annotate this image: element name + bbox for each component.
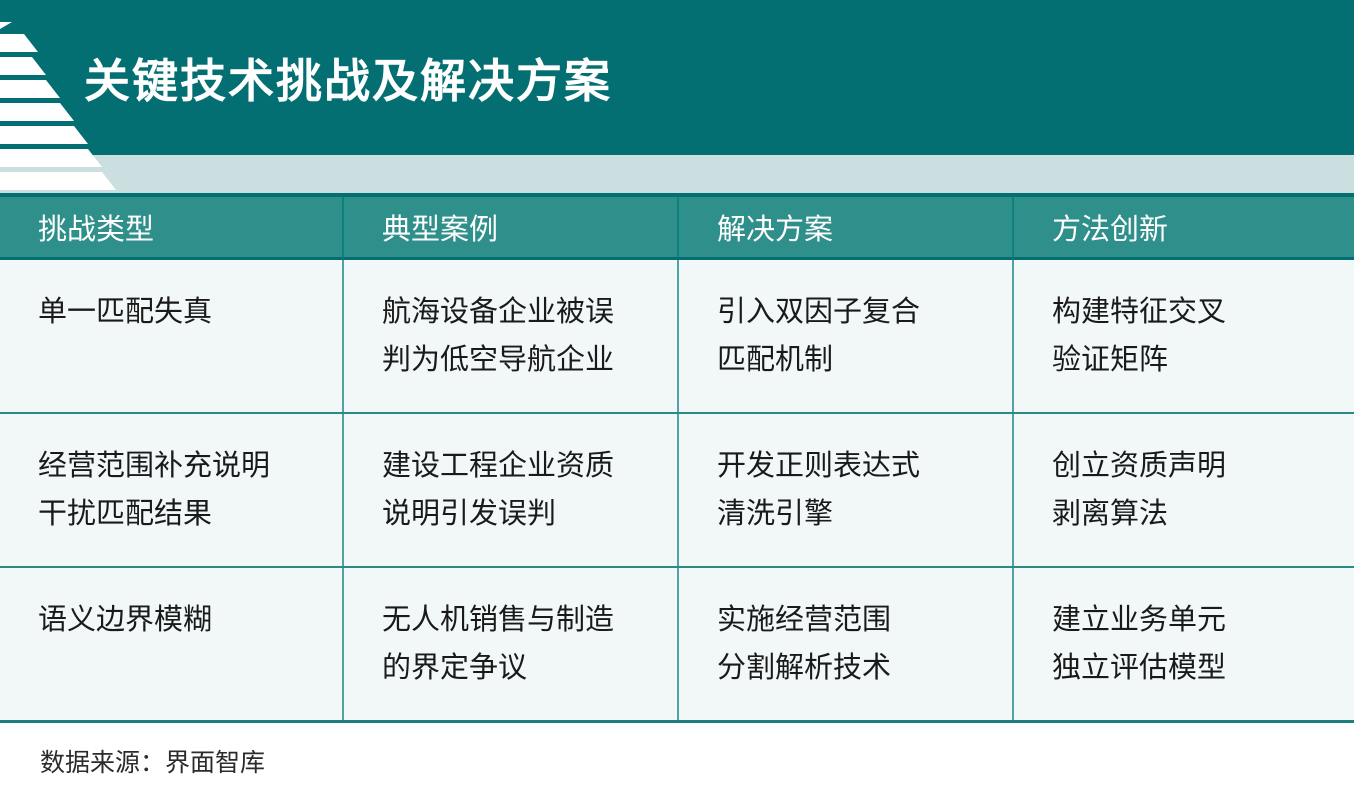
cell-line: 清洗引擎: [717, 490, 1000, 538]
cell-line: 实施经营范围: [717, 596, 1000, 644]
cell-line: 建设工程企业资质: [382, 442, 665, 490]
table-row: 经营范围补充说明 干扰匹配结果 建设工程企业资质 说明引发误判 开发正则表达式 …: [0, 413, 1354, 567]
cell-solution: 开发正则表达式 清洗引擎: [678, 413, 1013, 567]
cell-challenge-type: 单一匹配失真: [0, 259, 343, 414]
header-subband: [0, 155, 1354, 193]
cell-typical-case: 航海设备企业被误 判为低空导航企业: [343, 259, 678, 414]
cell-line: 引入双因子复合: [717, 288, 1000, 336]
triangle-stripes-decoration-lower: [0, 155, 200, 193]
cell-line: 航海设备企业被误: [382, 288, 665, 336]
data-source-label: 数据来源：界面智库: [0, 743, 265, 779]
cell-method-innovation: 构建特征交叉 验证矩阵: [1013, 259, 1354, 414]
cell-line: 剥离算法: [1052, 490, 1342, 538]
table-row: 单一匹配失真 航海设备企业被误 判为低空导航企业 引入双因子复合 匹配机制 构建…: [0, 259, 1354, 414]
cell-typical-case: 建设工程企业资质 说明引发误判: [343, 413, 678, 567]
footer: 数据来源：界面智库: [0, 723, 1354, 798]
cell-line: 经营范围补充说明: [38, 442, 330, 490]
cell-line: 单一匹配失真: [38, 288, 330, 336]
cell-line: 干扰匹配结果: [38, 490, 330, 538]
cell-line: 开发正则表达式: [717, 442, 1000, 490]
cell-line: 分割解析技术: [717, 644, 1000, 692]
cell-challenge-type: 语义边界模糊: [0, 567, 343, 722]
column-header-solution: 解决方案: [678, 195, 1013, 259]
column-header-method-innovation: 方法创新: [1013, 195, 1354, 259]
table-body: 单一匹配失真 航海设备企业被误 判为低空导航企业 引入双因子复合 匹配机制 构建…: [0, 259, 1354, 722]
cell-typical-case: 无人机销售与制造 的界定争议: [343, 567, 678, 722]
cell-solution: 实施经营范围 分割解析技术: [678, 567, 1013, 722]
cell-line: 创立资质声明: [1052, 442, 1342, 490]
table-header: 挑战类型 典型案例 解决方案 方法创新: [0, 195, 1354, 259]
cell-line: 无人机销售与制造: [382, 596, 665, 644]
table-row: 语义边界模糊 无人机销售与制造 的界定争议 实施经营范围 分割解析技术 建立业务…: [0, 567, 1354, 722]
cell-method-innovation: 建立业务单元 独立评估模型: [1013, 567, 1354, 722]
cell-line: 验证矩阵: [1052, 336, 1342, 384]
cell-line: 独立评估模型: [1052, 644, 1342, 692]
cell-line: 语义边界模糊: [38, 596, 330, 644]
column-header-typical-case: 典型案例: [343, 195, 678, 259]
cell-line: 的界定争议: [382, 644, 665, 692]
table-header-row: 挑战类型 典型案例 解决方案 方法创新: [0, 195, 1354, 259]
cell-line: 判为低空导航企业: [382, 336, 665, 384]
column-header-challenge-type: 挑战类型: [0, 195, 343, 259]
cell-line: 说明引发误判: [382, 490, 665, 538]
cell-line: 构建特征交叉: [1052, 288, 1342, 336]
cell-solution: 引入双因子复合 匹配机制: [678, 259, 1013, 414]
header-banner: 关键技术挑战及解决方案: [0, 0, 1354, 155]
cell-method-innovation: 创立资质声明 剥离算法: [1013, 413, 1354, 567]
cell-line: 建立业务单元: [1052, 596, 1342, 644]
challenges-table: 挑战类型 典型案例 解决方案 方法创新 单一匹配失真 航海设备企业被误 判为低空…: [0, 193, 1354, 723]
challenges-table-container: 挑战类型 典型案例 解决方案 方法创新 单一匹配失真 航海设备企业被误 判为低空…: [0, 193, 1354, 723]
cell-line: 匹配机制: [717, 336, 1000, 384]
cell-challenge-type: 经营范围补充说明 干扰匹配结果: [0, 413, 343, 567]
page-title: 关键技术挑战及解决方案: [84, 0, 612, 155]
